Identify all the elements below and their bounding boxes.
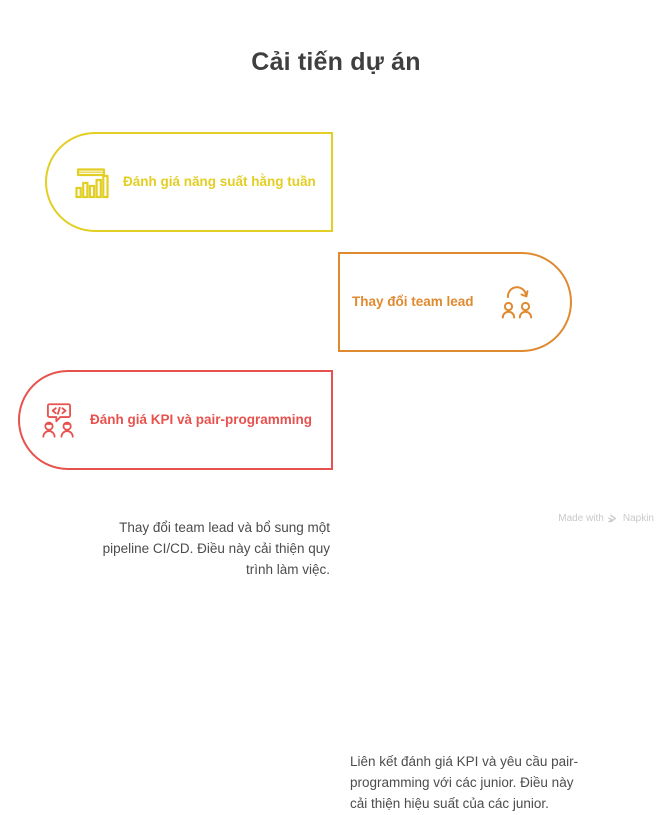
diagram-row-3: Đánh giá KPI và pair-programming Liên kế… [0,370,672,470]
watermark-prefix: Made with [558,513,604,524]
card-thay-doi-team-lead[interactable]: Thay đổi team lead [338,252,572,352]
card-danh-gia-kpi-va-pair-programming[interactable]: Đánh giá KPI và pair-programming [18,370,333,470]
diagram-row-1: Đánh giá năng suất hằng tuần Đánh giá ve… [0,132,672,232]
card-label: Đánh giá năng suất hằng tuần [123,174,316,191]
watermark-brand: Napkin [623,513,654,524]
diagram-row-2: Thay đổi team lead và bổ sung một pipeli… [0,252,672,352]
diagram-canvas: Cải tiến dự án Đánh giá năng suất hằng t… [0,0,672,540]
page-title: Cải tiến dự án [0,48,672,77]
code-bubble-people-icon [38,398,80,442]
bar-chart-icon [71,161,113,203]
card-label: Thay đổi team lead [352,294,474,311]
watermark: Made with Napkin [558,513,654,524]
description-row-3: Liên kết đánh giá KPI và yêu cầu pair-pr… [350,752,580,815]
card-danh-gia-nang-suat-hang-tuan[interactable]: Đánh giá năng suất hằng tuần [45,132,333,232]
description-row-2: Thay đổi team lead và bổ sung một pipeli… [98,518,330,581]
people-swap-icon [496,281,538,323]
card-label: Đánh giá KPI và pair-programming [90,412,312,429]
napkin-chevrons-icon [608,513,619,524]
